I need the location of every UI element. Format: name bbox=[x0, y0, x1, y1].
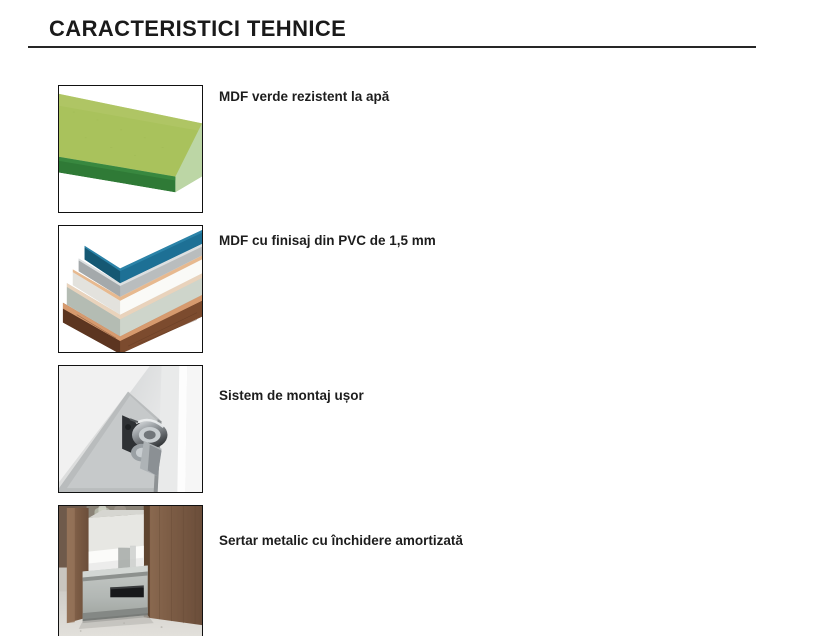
mounting-bracket-illustration bbox=[59, 366, 202, 492]
soft-close-drawer-illustration bbox=[59, 506, 202, 636]
feature-image-sertar-metalic bbox=[58, 505, 203, 636]
feature-label-montaj-usor: Sistem de montaj ușor bbox=[219, 388, 364, 403]
feature-label-sertar-metalic: Sertar metalic cu închidere amortizată bbox=[219, 533, 463, 548]
feature-image-mdf-verde bbox=[58, 85, 203, 213]
feature-image-montaj-usor bbox=[58, 365, 203, 493]
title-divider bbox=[28, 46, 756, 48]
feature-label-mdf-pvc: MDF cu finisaj din PVC de 1,5 mm bbox=[219, 233, 436, 248]
feature-label-mdf-verde: MDF verde rezistent la apă bbox=[219, 89, 389, 104]
green-mdf-board-illustration bbox=[59, 86, 202, 212]
pvc-layered-panels-illustration bbox=[59, 226, 202, 352]
feature-image-mdf-pvc bbox=[58, 225, 203, 353]
page-title: CARACTERISTICI TEHNICE bbox=[49, 16, 346, 42]
